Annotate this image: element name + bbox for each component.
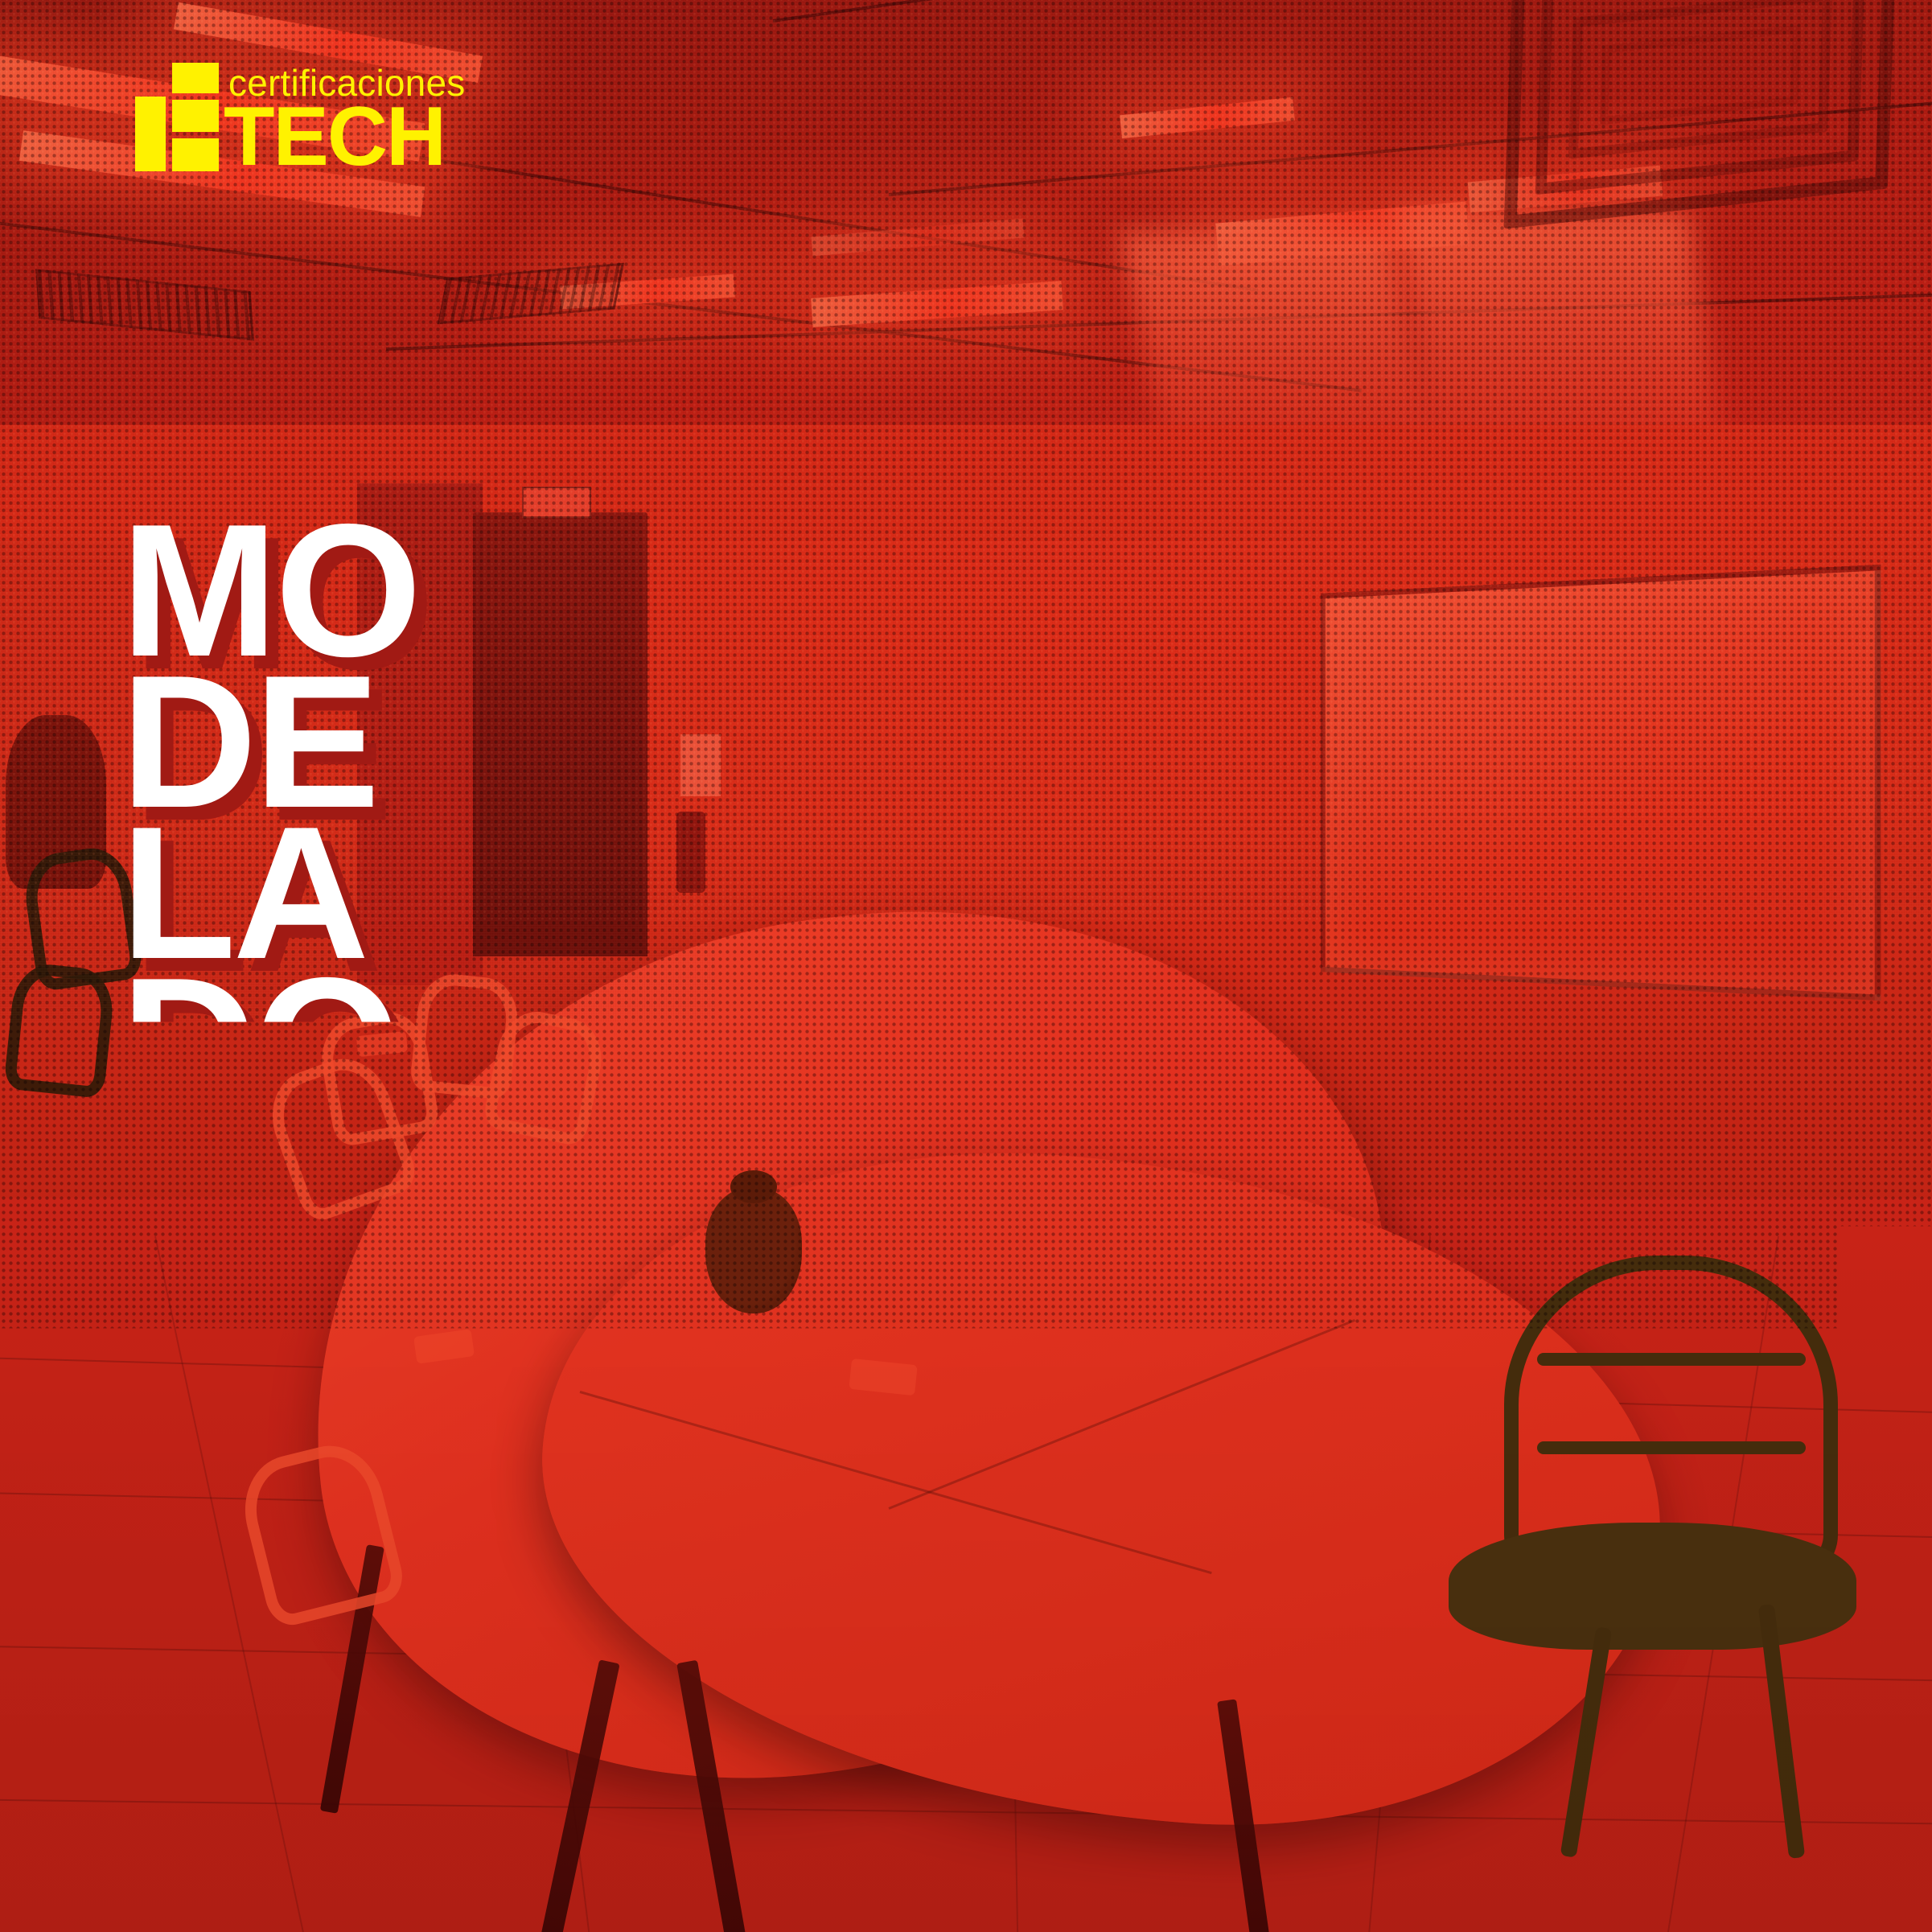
detail-value-start-date: 26 Octubre 2024	[121, 1608, 559, 1803]
detail-value-end-date: 14 Diciembre 2024	[559, 1608, 997, 1803]
logo-wordmark: TECH	[224, 103, 465, 171]
detail-column-end: Finaliza 14 Diciembre 2024	[559, 1508, 997, 1803]
tech-blocks-icon	[135, 63, 219, 171]
page-title: MO DE LA DO	[121, 515, 419, 1120]
detail-rule	[121, 1577, 362, 1581]
detail-label-modalidad: Modalidad	[997, 1508, 1488, 1558]
detail-rule	[559, 1577, 800, 1581]
detail-label-finaliza: Finaliza	[559, 1508, 997, 1558]
detail-column-start: Inicia 26 Octubre 2024	[121, 1508, 559, 1803]
tech-logo-type: certificaciones TECH	[224, 64, 465, 171]
detail-column-modality: Modalidad Presencial	[997, 1508, 1488, 1803]
event-details: Inicia 26 Octubre 2024 Finaliza 14 Dicie…	[121, 1508, 1488, 1803]
promo-poster: certificaciones TECH MO DE LA DO PROFUND…	[0, 0, 1932, 1932]
blender-wordmark: blender	[1327, 1241, 1618, 1326]
blender-logo: blender	[1153, 1235, 1618, 1332]
detail-rule	[997, 1577, 1239, 1581]
blender-logo-icon	[1153, 1235, 1314, 1332]
tech-logo: certificaciones TECH	[135, 63, 465, 171]
headline-line-4: DO	[121, 968, 419, 1120]
detail-label-inicia: Inicia	[121, 1508, 559, 1558]
poster-content: certificaciones TECH MO DE LA DO PROFUND…	[0, 0, 1932, 1932]
detail-value-modality: Presencial	[997, 1608, 1488, 1673]
